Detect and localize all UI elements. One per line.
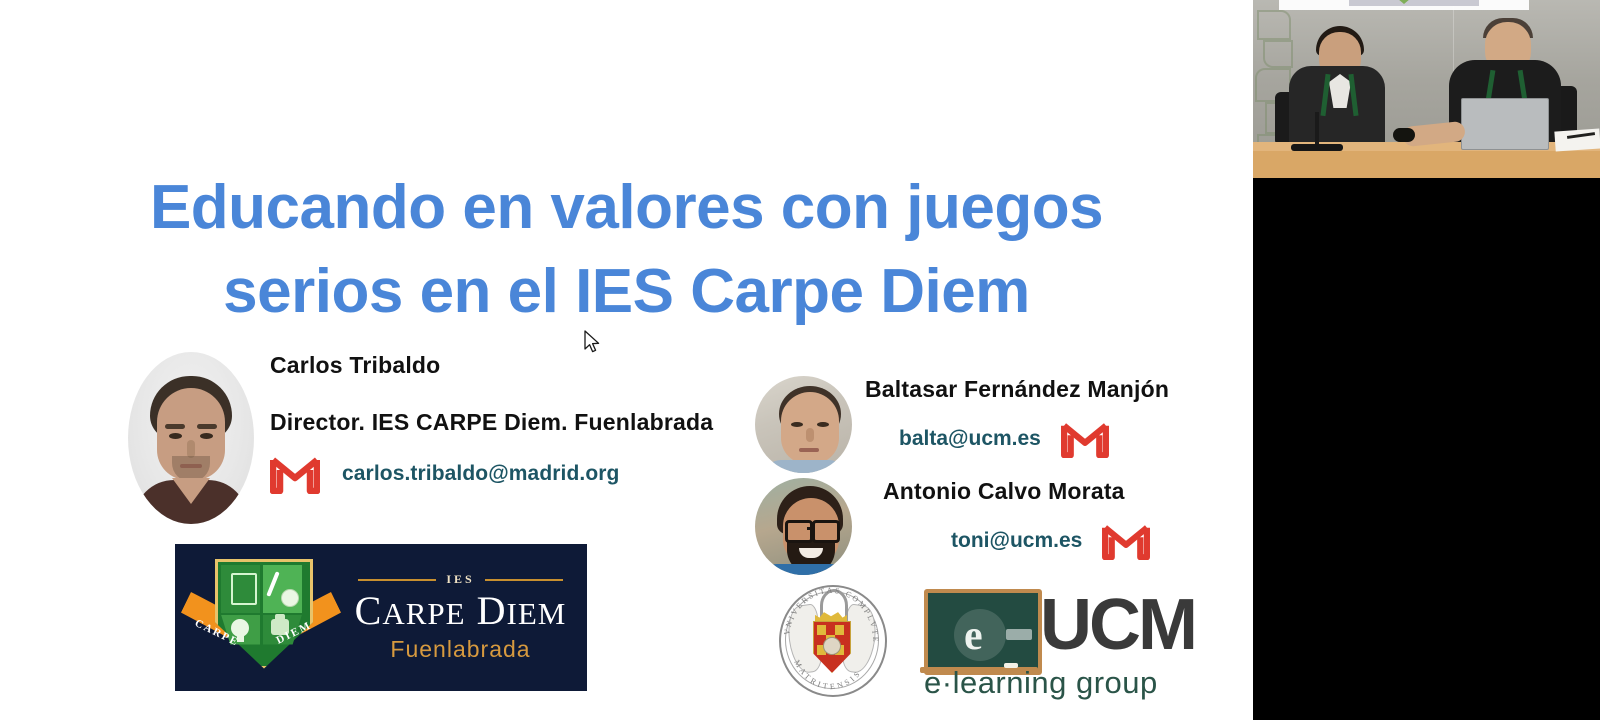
presenter-name: Antonio Calvo Morata xyxy=(865,478,1225,505)
webcam-video-panel[interactable]: Fuenlabrada xyxy=(1253,0,1600,720)
blackboard-icon: e xyxy=(924,589,1042,675)
presenter-name: Baltasar Fernández Manjón xyxy=(865,376,1225,403)
ucm-wordmark: UCM xyxy=(1040,579,1195,671)
gmail-icon xyxy=(270,454,320,494)
presentation-slide: Educando en valores con juegos serios en… xyxy=(0,0,1253,720)
diem-d: D xyxy=(477,588,507,633)
presenter-carlos-tribaldo: Carlos Tribaldo Director. IES CARPE Diem… xyxy=(128,352,728,532)
carlos-tribaldo-photo xyxy=(128,352,254,524)
laptop xyxy=(1461,98,1549,150)
carpe-rest: ARPE xyxy=(382,596,465,631)
ies-carpe-diem-logo: CARPE DIEM IES CARPE DIEM Fuenlabrada xyxy=(175,544,587,691)
antonio-avatar xyxy=(755,478,852,575)
e-letter: e xyxy=(964,615,983,657)
carpe-diem-shield-icon: CARPE DIEM xyxy=(183,553,338,683)
ies-label: IES xyxy=(446,572,474,587)
microphone xyxy=(1315,112,1319,146)
carpe-subtitle: Fuenlabrada xyxy=(348,636,573,663)
presenter-email[interactable]: toni@ucm.es xyxy=(951,529,1082,553)
ucm-seal-logo: VNIVERSITAS COMPLVTENSIS MATRITENSIS xyxy=(773,583,889,695)
gmail-icon xyxy=(1061,420,1109,458)
ball-icon xyxy=(281,589,299,607)
presenter-baltasar-fernandez-manjon: Baltasar Fernández Manjón balta@ucm.es xyxy=(755,376,1215,472)
gmail-icon xyxy=(1102,522,1150,560)
projected-slide-text: Fuenlabrada xyxy=(1428,0,1479,1)
mouse-cursor xyxy=(584,330,602,356)
lab-icon xyxy=(231,573,257,605)
video-feed[interactable]: Fuenlabrada xyxy=(1253,0,1600,178)
presenter-email[interactable]: carlos.tribaldo@madrid.org xyxy=(342,462,619,486)
presenter-email-row: toni@ucm.es xyxy=(865,522,1225,560)
ucm-elearning-group-logo: e UCM e·learning group xyxy=(918,585,1200,695)
svg-text:VNIVERSITAS COMPLVTENSIS: VNIVERSITAS COMPLVTENSIS xyxy=(779,585,880,644)
computer-mouse xyxy=(1393,128,1415,142)
antonio-details: Antonio Calvo Morata toni@ucm.es xyxy=(865,478,1225,560)
slide-title-line-1: Educando en valores con juegos xyxy=(0,166,1253,250)
slide-title: Educando en valores con juegos serios en… xyxy=(0,166,1253,334)
baltasar-details: Baltasar Fernández Manjón balta@ucm.es xyxy=(865,376,1225,458)
presenter-email-row: balta@ucm.es xyxy=(865,420,1225,458)
diem-rest: IEM xyxy=(507,596,567,631)
slide-title-line-2: serios en el IES Carpe Diem xyxy=(0,250,1253,334)
carpe-c: C xyxy=(355,588,383,633)
screen: Educando en valores con juegos serios en… xyxy=(0,0,1600,720)
baltasar-avatar xyxy=(755,376,852,473)
carpe-diem-title: CARPE DIEM xyxy=(348,588,573,637)
presenter-email[interactable]: balta@ucm.es xyxy=(899,427,1041,451)
ucm-tagline: e·learning group xyxy=(924,665,1200,701)
svg-text:MATRITENSIS: MATRITENSIS xyxy=(792,658,863,691)
presenter-name: Carlos Tribaldo xyxy=(270,352,870,379)
presenter-antonio-calvo-morata: Antonio Calvo Morata toni@ucm.es xyxy=(755,478,1215,574)
carpe-diem-wordmark: IES CARPE DIEM Fuenlabrada xyxy=(348,572,587,663)
